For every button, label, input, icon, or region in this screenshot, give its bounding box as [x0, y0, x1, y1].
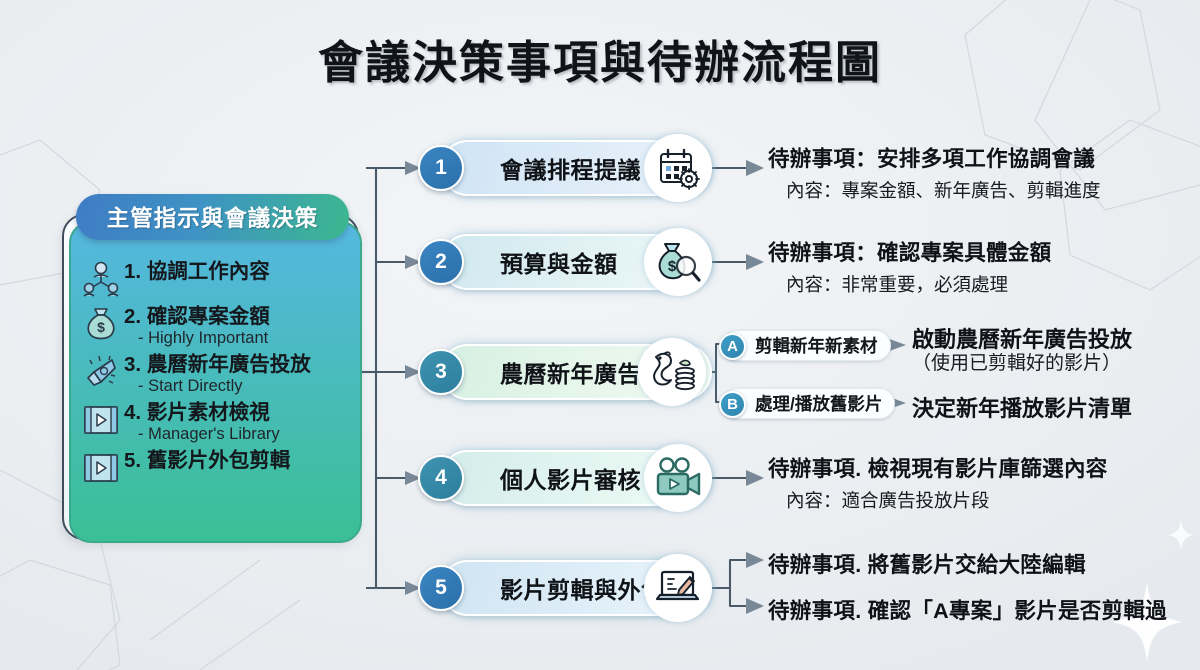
- branch-a-label: 剪輯新年新素材: [755, 333, 878, 358]
- outcome-1: 待辦事項：安排多項工作協調會議 內容：專案金額、新年廣告、剪輯進度: [768, 142, 1101, 203]
- video-camera-icon: [644, 444, 712, 512]
- step-node-4-badge: 4: [418, 455, 464, 501]
- panel-item-2: $ 2. 確認專案金額 - Highly Important: [78, 303, 347, 348]
- film-play-icon: [78, 399, 124, 441]
- panel-item-text: 舊影片外包剪輯: [147, 449, 291, 472]
- step-node-1-label: 會議排程提議: [500, 151, 641, 185]
- panel-item-text: 影片素材檢視: [147, 401, 270, 424]
- decisions-panel: 主管指示與會議決策 1. 協調工作內容: [62, 214, 359, 540]
- panel-item-sub: - Manager's Library: [124, 425, 280, 444]
- branch-a-badge: A: [719, 333, 746, 360]
- panel-item-text: 確認專案金額: [147, 305, 270, 328]
- sparkle-small-icon: [1168, 520, 1194, 550]
- branch-b-label: 處理/播放舊影片: [755, 391, 882, 416]
- outcome-2: 待辦事項：確認專案具體金額 內容：非常重要，必須處理: [768, 236, 1051, 297]
- step-node-2-label: 預算與金額: [500, 245, 618, 279]
- outcome-2-line2: 內容：非常重要，必須處理: [768, 271, 1051, 297]
- outcome-5b-line1: 待辦事項. 確認「A專案」影片是否剪輯過: [768, 594, 1167, 625]
- dragon-coins-icon: [638, 338, 706, 406]
- panel-item-num: 5.: [124, 449, 141, 472]
- panel-header: 主管指示與會議決策: [76, 194, 349, 240]
- page-title: 會議決策事項與待辦流程圖: [0, 26, 1200, 91]
- outcome-1-line1: 待辦事項：安排多項工作協調會議: [768, 142, 1101, 173]
- panel-item-sub: - Highly Important: [124, 329, 270, 348]
- film-play-icon: [78, 447, 124, 489]
- step-node-2-badge: 2: [418, 239, 464, 285]
- calendar-gear-icon: [644, 134, 712, 202]
- step-node-1[interactable]: 會議排程提議 1: [418, 140, 714, 196]
- money-bag-icon: $: [78, 303, 124, 345]
- team-network-icon: [78, 258, 124, 300]
- step-node-1-badge: 1: [418, 145, 464, 191]
- panel-item-text: 協調工作內容: [147, 260, 270, 283]
- panel-item-4: 4. 影片素材檢視 - Manager's Library: [78, 399, 347, 444]
- money-bag-search-icon: $: [644, 228, 712, 296]
- outcome-4-line2: 內容：適合廣告投放片段: [768, 487, 1108, 513]
- outcome-2-line1: 待辦事項：確認專案具體金額: [768, 236, 1051, 267]
- panel-item-1: 1. 協調工作內容: [78, 258, 347, 300]
- step-node-5-label: 影片剪輯與外包: [500, 571, 665, 605]
- step-node-4[interactable]: 個人影片審核 4: [418, 450, 714, 506]
- panel-item-num: 4.: [124, 401, 141, 424]
- step-node-5-badge: 5: [418, 565, 464, 611]
- panel-item-5: 5. 舊影片外包剪輯: [78, 447, 347, 489]
- panel-item-3: 3. 農曆新年廣告投放 - Start Directly: [78, 351, 347, 396]
- panel-item-num: 1.: [124, 260, 141, 283]
- step-node-4-label: 個人影片審核: [500, 461, 641, 495]
- branch-a-result-sub: （使用已剪輯好的影片）: [912, 348, 1121, 375]
- outcome-5b: 待辦事項. 確認「A專案」影片是否剪輯過: [768, 594, 1167, 625]
- branch-b-badge: B: [719, 391, 746, 418]
- megaphone-icon: [78, 351, 124, 393]
- panel-item-list: 1. 協調工作內容 $ 2. 確認專案金額 - Highly Important: [78, 258, 347, 492]
- branch-b-result: 決定新年播放影片清單: [912, 391, 1132, 423]
- panel-item-text: 農曆新年廣告投放: [147, 353, 311, 376]
- branch-pill-a[interactable]: A 剪輯新年新素材: [722, 330, 891, 361]
- branch-pill-b[interactable]: B 處理/播放舊影片: [722, 388, 895, 419]
- step-node-3[interactable]: 農曆新年廣告策略 3: [418, 344, 714, 400]
- panel-item-num: 2.: [124, 305, 141, 328]
- outcome-1-line2: 內容：專案金額、新年廣告、剪輯進度: [768, 177, 1101, 203]
- outcome-5a-line1: 待辦事項. 將舊影片交給大陸編輯: [768, 548, 1086, 579]
- laptop-pencil-icon: [644, 554, 712, 622]
- step-node-5[interactable]: 影片剪輯與外包 5: [418, 560, 714, 616]
- svg-text:$: $: [97, 319, 105, 335]
- outcome-4: 待辦事項. 檢視現有影片庫篩選內容 內容：適合廣告投放片段: [768, 452, 1108, 513]
- svg-text:$: $: [668, 258, 677, 275]
- step-node-3-badge: 3: [418, 349, 464, 395]
- step-node-2[interactable]: 預算與金額 2 $: [418, 234, 714, 290]
- panel-item-num: 3.: [124, 353, 141, 376]
- outcome-4-line1: 待辦事項. 檢視現有影片庫篩選內容: [768, 452, 1108, 483]
- outcome-5a: 待辦事項. 將舊影片交給大陸編輯: [768, 548, 1086, 579]
- panel-item-sub: - Start Directly: [124, 377, 311, 396]
